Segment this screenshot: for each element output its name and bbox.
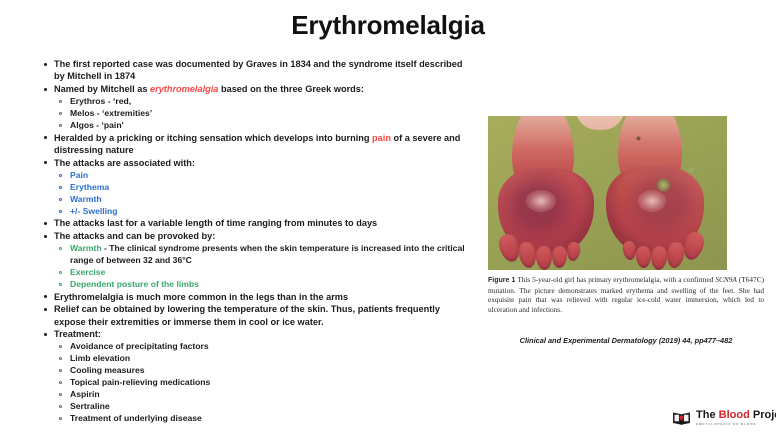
logo-blood: Blood	[719, 409, 750, 421]
logo-project: Project	[750, 409, 776, 421]
provoked-warmth-detail: - The clinical syndrome presents when th…	[70, 243, 465, 265]
pain-accent: pain	[372, 133, 391, 143]
logo-the: The	[696, 409, 719, 421]
bullet-heralded-by: Heralded by a pricking or itching sensat…	[40, 132, 470, 156]
bullet-legs-more-common: Erythromelalgia is much more common in t…	[40, 291, 470, 303]
associated-erythema: Erythema	[40, 182, 470, 194]
heralded-pre: Heralded by a pricking or itching sensat…	[54, 133, 372, 143]
named-post: based on the three Greek words:	[218, 84, 364, 94]
treatment-cooling: Cooling measures	[40, 365, 470, 377]
logo-tagline: ENCYCLOPEDIA OF BLOOD	[696, 423, 776, 426]
greek-word-melos: Melos - ‘extremities’	[40, 108, 470, 120]
erythromelalgia-accent: erythromelalgia	[150, 84, 218, 94]
associated-swelling: +/- Swelling	[40, 206, 470, 218]
provoked-warmth-label: Warmth	[70, 243, 102, 253]
greek-word-algos: Algos - ‘pain'	[40, 120, 470, 132]
journal-citation: Clinical and Experimental Dermatology (2…	[488, 336, 764, 345]
treatment-aspirin: Aspirin	[40, 389, 470, 401]
page-title: Erythromelalgia	[0, 10, 776, 41]
treatment-sertraline: Sertraline	[40, 401, 470, 413]
treatment-limb-elevation: Limb elevation	[40, 353, 470, 365]
brand-logo[interactable]: The Blood Project ENCYCLOPEDIA OF BLOOD	[672, 410, 776, 426]
treatment-topical: Topical pain-relieving medications	[40, 377, 470, 389]
provoked-warmth: Warmth - The clinical syndrome presents …	[40, 243, 470, 266]
photo-skin-highlight	[638, 190, 666, 212]
figure-label: Figure 1	[488, 277, 515, 284]
greek-word-erythros: Erythros - ‘red,	[40, 96, 470, 108]
photo-skin-highlight	[526, 190, 556, 212]
associated-pain: Pain	[40, 170, 470, 182]
bullet-relief-cooling: Relief can be obtained by lowering the t…	[40, 303, 470, 327]
caption-pre: This 5-year-old girl has primary erythro…	[515, 275, 715, 284]
photo-ulceration	[656, 178, 671, 192]
clinical-photograph	[488, 116, 727, 270]
slide: Erythromelalgia The first reported case …	[0, 0, 776, 437]
photo-lesion	[636, 136, 641, 141]
associated-warmth: Warmth	[40, 194, 470, 206]
bullet-attack-duration: The attacks last for a variable length o…	[40, 217, 470, 229]
figure-caption: Figure 1 This 5-year-old girl has primar…	[488, 275, 764, 314]
bullet-treatment: Treatment:	[40, 328, 470, 340]
gene-name: SCN9A	[715, 275, 737, 284]
bullet-first-reported-case: The first reported case was documented b…	[40, 58, 470, 82]
bullet-list-level1: The first reported case was documented b…	[40, 58, 470, 425]
logo-text: The Blood Project ENCYCLOPEDIA OF BLOOD	[696, 410, 776, 426]
provoked-exercise: Exercise	[40, 267, 470, 279]
open-book-icon	[672, 410, 691, 426]
treatment-underlying-disease: Treatment of underlying disease	[40, 413, 470, 425]
provoked-dependent-posture: Dependent posture of the limbs	[40, 279, 470, 291]
logo-wordmark: The Blood Project	[696, 410, 776, 421]
treatment-avoidance: Avoidance of precipitating factors	[40, 341, 470, 353]
photo-content	[488, 116, 727, 270]
bullet-provoked-by: The attacks and can be provoked by:	[40, 230, 470, 242]
bullet-attacks-associated: The attacks are associated with:	[40, 157, 470, 169]
named-pre: Named by Mitchell as	[54, 84, 150, 94]
bullet-content: The first reported case was documented b…	[40, 58, 470, 425]
bullet-named-by-mitchell: Named by Mitchell as erythromelalgia bas…	[40, 83, 470, 95]
